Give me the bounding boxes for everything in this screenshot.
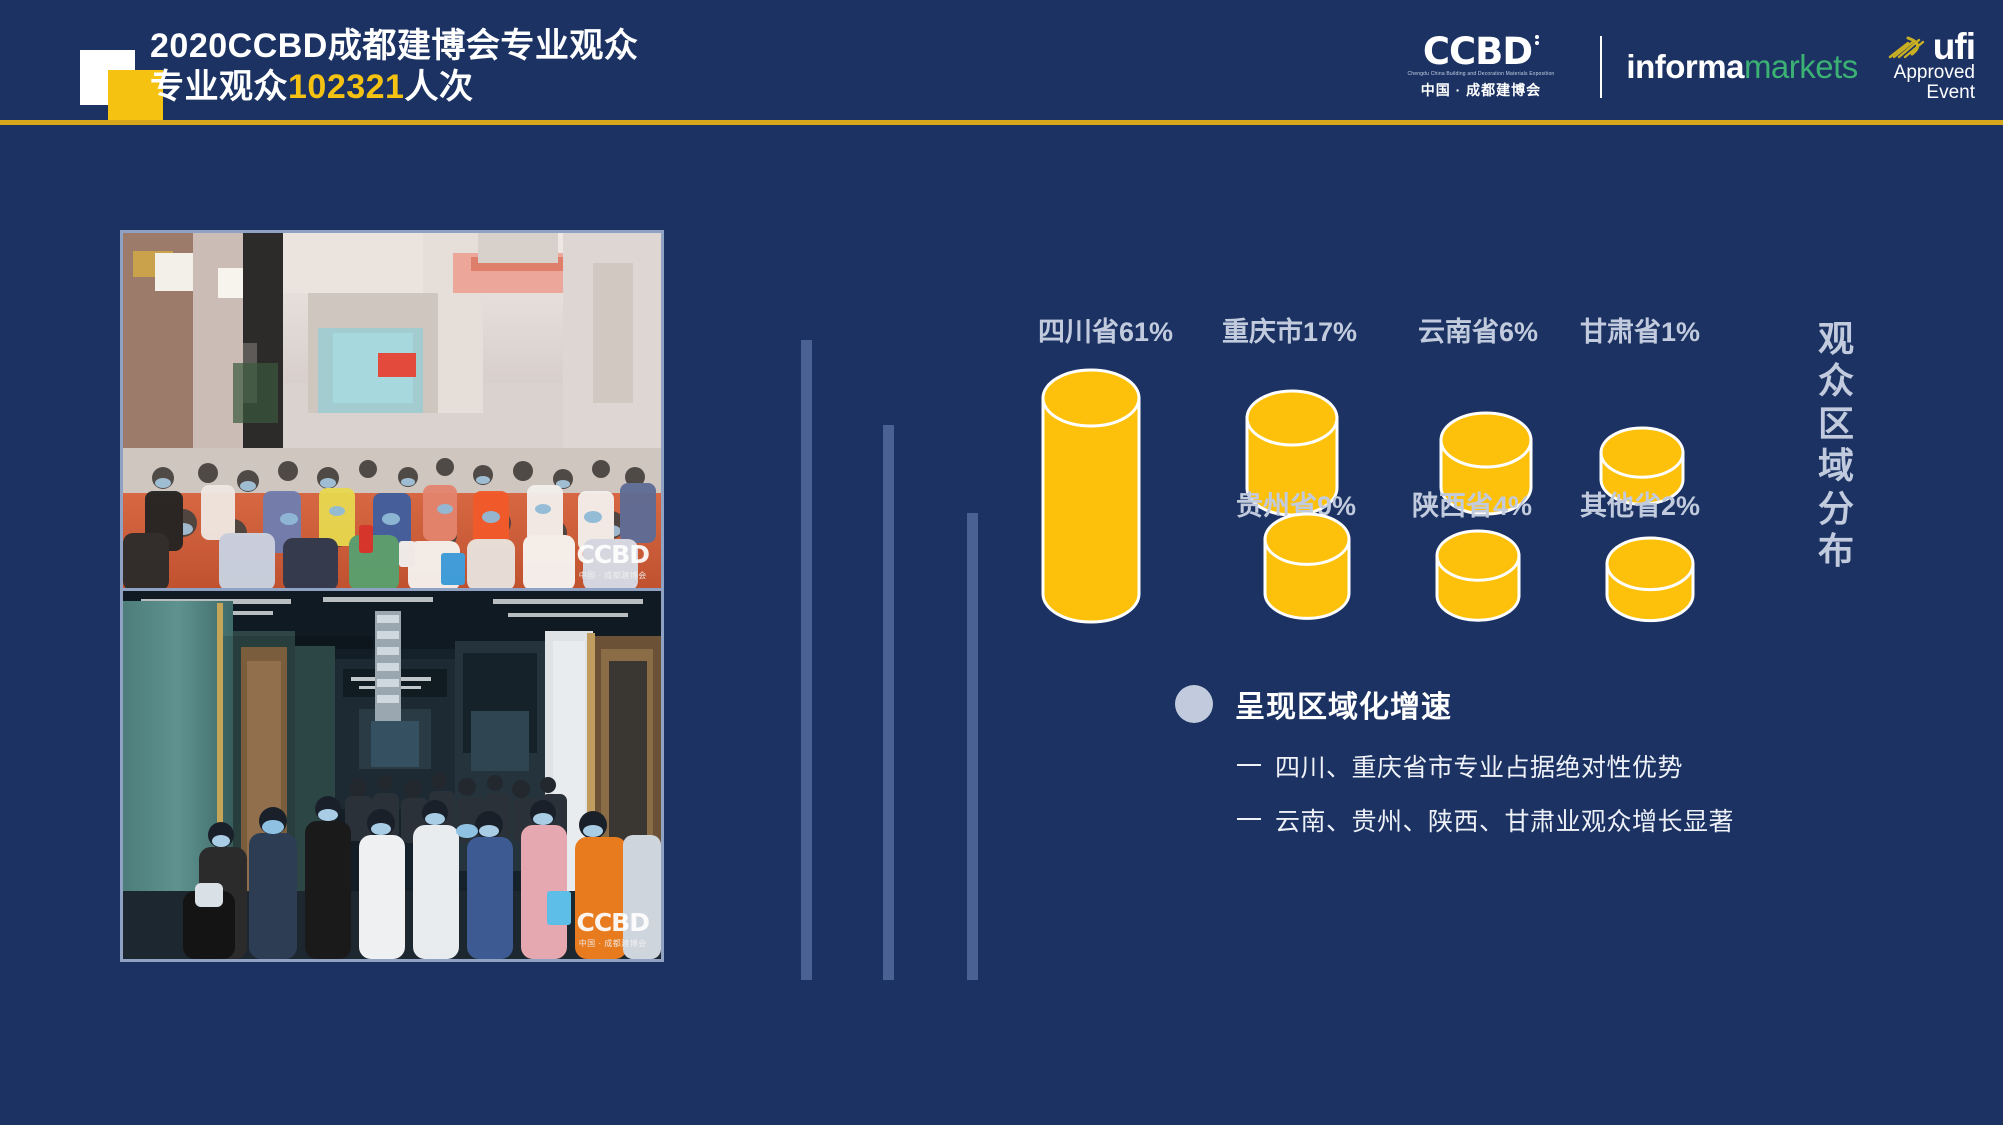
insights-block: 呈现区域化增速 四川、重庆省市专业占据绝对性优势 云南、贵州、陕西、甘肃业观众增… — [1175, 682, 1875, 835]
watermark-sub: 中国 · 成都建博会 — [576, 570, 649, 581]
subtitle-prefix: 专业观众 — [150, 68, 288, 106]
insight-item-2-text: 云南、贵州、陕西、甘肃业观众增长显著 — [1275, 808, 1734, 836]
informa-markets-logo: informamarkets — [1626, 48, 1857, 86]
page-title: 2020CCBD成都建博会专业观众 — [150, 26, 638, 67]
chart-label-陕西省: 陕西省4% — [1412, 484, 1532, 523]
ufi-approved-event-logo: ufi Approved Event — [1888, 31, 1975, 102]
chart-cylinder-贵州省 — [1262, 511, 1352, 621]
chart-cylinder-陕西省 — [1434, 528, 1522, 623]
dash-icon — [1237, 818, 1261, 820]
insight-item-1-text: 四川、重庆省市专业占据绝对性优势 — [1275, 754, 1683, 782]
chart-label-四川省: 四川省61% — [1038, 310, 1173, 349]
slide-header: 2020CCBD成都建博会专业观众 专业观众102321人次 CCBD Chen… — [0, 0, 2003, 125]
decor-bar-3 — [967, 513, 978, 980]
photo-1-image — [123, 233, 661, 591]
chart-label-其他省: 其他省2% — [1580, 484, 1700, 523]
ccbd-wordmark: CCBD — [1423, 34, 1539, 69]
markets-word: markets — [1744, 48, 1858, 86]
photo-2-image — [123, 591, 661, 959]
ufi-approved-label: Approved — [1894, 63, 1975, 83]
header-divider-line — [0, 120, 2003, 125]
slide-root: 2020CCBD成都建博会专业观众 专业观众102321人次 CCBD Chen… — [0, 0, 2003, 1125]
decor-bar-1 — [801, 340, 812, 980]
insights-heading: 呈现区域化增速 — [1235, 682, 1452, 726]
ufi-top-row: ufi — [1888, 31, 1975, 62]
ufi-event-label: Event — [1926, 83, 1975, 103]
ccbd-subtitle-cn: 中国 · 成都建博会 — [1421, 80, 1541, 100]
watermark-brand: CCBD — [576, 540, 649, 569]
photo-2-watermark: CCBD 中国 · 成都建博会 — [576, 908, 649, 949]
watermark-brand: CCBD — [576, 908, 649, 937]
ccbd-letters: CCBD — [1423, 34, 1532, 69]
subtitle-suffix: 人次 — [404, 68, 473, 106]
chart-label-重庆市: 重庆市17% — [1222, 310, 1357, 349]
ccbd-dots-icon — [1535, 35, 1539, 45]
photo-exhibition-hall: CCBD 中国 · 成都建博会 — [120, 230, 664, 594]
chart-vertical-title: 观众区域分布 — [1812, 318, 1862, 573]
chart-label-云南省: 云南省6% — [1418, 310, 1538, 349]
insight-item-1: 四川、重庆省市专业占据绝对性优势 — [1237, 756, 1875, 781]
ccbd-subtitle-en: Chengdu China Building and Decoration Ma… — [1407, 72, 1554, 78]
chart-cylinder-四川省 — [1040, 367, 1142, 625]
chart-cylinder-其他省 — [1604, 535, 1696, 624]
chart-label-甘肃省: 甘肃省1% — [1580, 310, 1700, 349]
ccbd-logo: CCBD Chengdu China Building and Decorati… — [1407, 34, 1576, 100]
insight-item-2: 云南、贵州、陕西、甘肃业观众增长显著 — [1237, 810, 1875, 835]
photo-booth-aisle: CCBD 中国 · 成都建博会 — [120, 588, 664, 962]
ufi-swoosh-icon — [1888, 34, 1930, 60]
visitor-count: 102321 — [288, 68, 404, 106]
dash-icon — [1237, 764, 1261, 766]
insights-heading-row: 呈现区域化增速 — [1175, 682, 1875, 726]
decor-bar-2 — [883, 425, 894, 980]
bullet-circle-icon — [1175, 685, 1213, 723]
header-title-group: 2020CCBD成都建博会专业观众 专业观众102321人次 — [150, 26, 638, 109]
header-logo-bar: CCBD Chengdu China Building and Decorati… — [1407, 26, 1975, 108]
ufi-wordmark: ufi — [1933, 31, 1975, 62]
watermark-sub: 中国 · 成都建博会 — [576, 938, 649, 949]
photo-1-watermark: CCBD 中国 · 成都建博会 — [576, 540, 649, 581]
logo-divider — [1600, 36, 1602, 98]
page-subtitle: 专业观众102321人次 — [150, 67, 638, 108]
informa-word: informa — [1626, 48, 1744, 86]
